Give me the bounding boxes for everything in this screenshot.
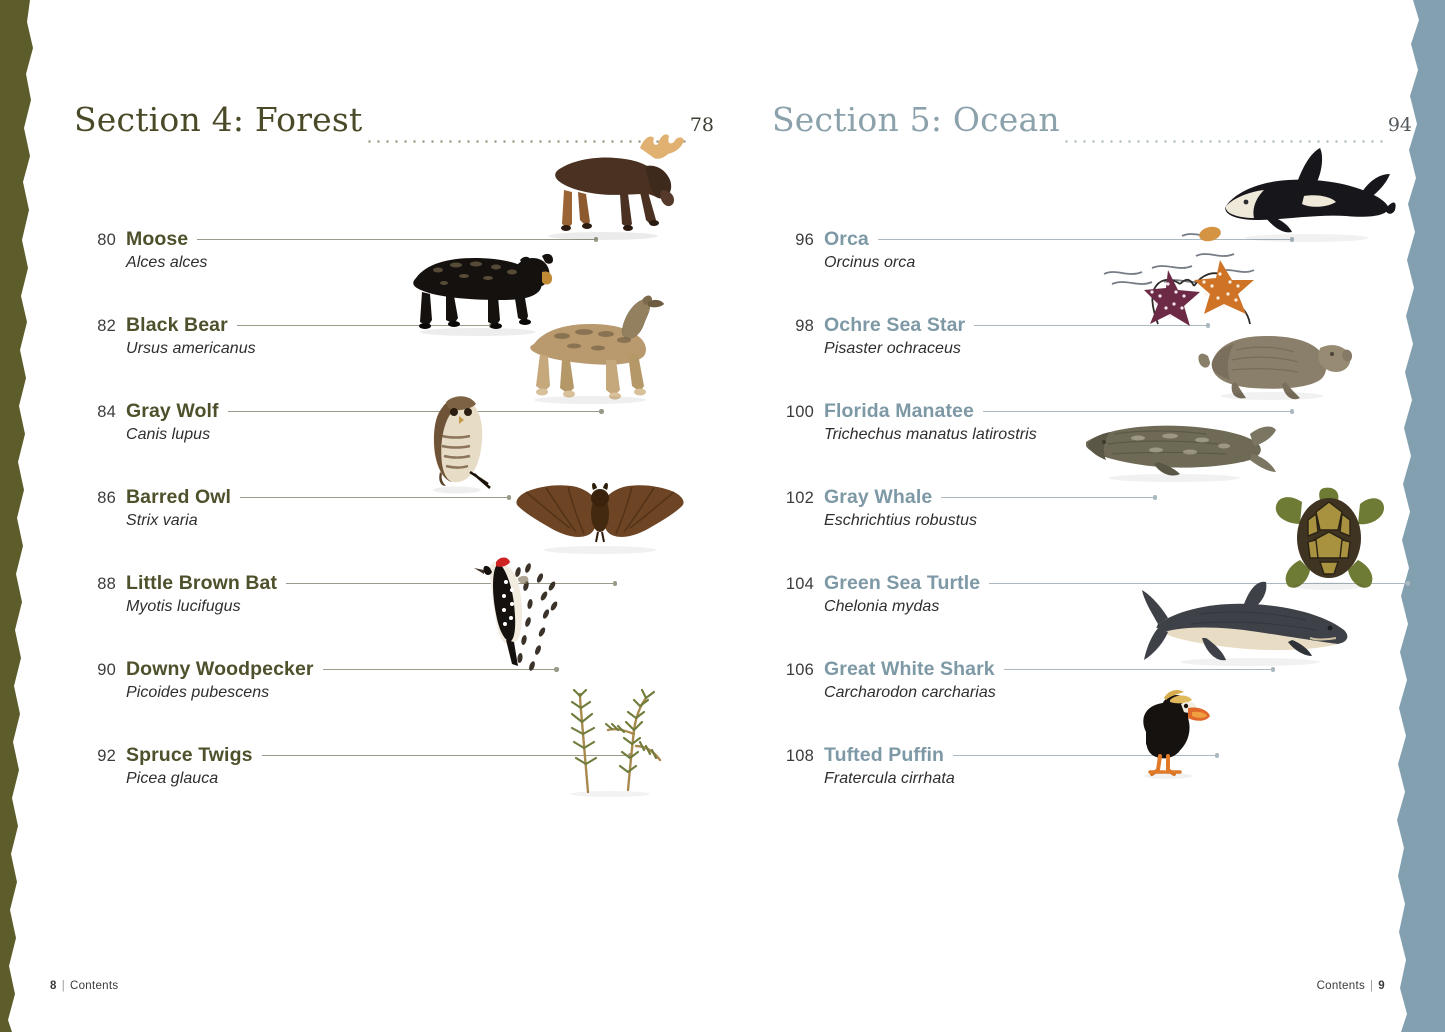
entry-latin-name: Strix varia [126,512,714,530]
entry-latin-name: Fratercula cirrhata [824,770,1412,788]
entry-connector-line [878,239,1293,240]
section-title: Section 4: Forest [74,100,363,139]
entry-name[interactable]: Moose [126,228,188,251]
leader-dots [365,140,687,143]
entry-page-number: 96 [772,231,814,250]
entry-page-number: 98 [772,317,814,336]
entry-connector-line [989,583,1409,584]
entry-connector-line [240,497,510,498]
list-item[interactable]: 86 Barred Owl Strix varia [74,486,714,542]
entry-name-row: Black Bear [126,314,714,337]
entry-page-number: 104 [772,575,814,594]
list-item[interactable]: 82 Black Bear Ursus americanus [74,314,714,370]
contents-spread: Section 4: Forest 78 80 Moose Alces alce… [0,0,1445,1032]
list-item[interactable]: 92 Spruce Twigs Picea glauca [74,744,714,800]
entry-body: Barred Owl Strix varia [126,486,714,530]
entry-name[interactable]: Great White Shark [824,658,995,681]
entry-name-row: Great White Shark [824,658,1412,681]
entry-name[interactable]: Gray Wolf [126,400,219,423]
entry-name[interactable]: Florida Manatee [824,400,974,423]
section-title: Section 5: Ocean [772,100,1060,139]
entry-name[interactable]: Green Sea Turtle [824,572,980,595]
entry-name[interactable]: Ochre Sea Star [824,314,965,337]
entry-body: Little Brown Bat Myotis lucifugus [126,572,714,616]
entry-body: Gray Whale Eschrichtius robustus [824,486,1412,530]
list-item[interactable]: 90 Downy Woodpecker Picoides pubescens [74,658,714,714]
entry-connector-line [974,325,1209,326]
entry-latin-name: Picea glauca [126,770,714,788]
entry-name-row: Moose [126,228,714,251]
entry-body: Tufted Puffin Fratercula cirrhata [824,744,1412,788]
entry-latin-name: Chelonia mydas [824,598,1412,616]
entry-connector-line [323,669,558,670]
entry-page-number: 106 [772,661,814,680]
entry-page-number: 88 [74,575,116,594]
section-ocean-column: Section 5: Ocean 94 96 Orca Orcinus orca [772,100,1412,158]
entry-body: Green Sea Turtle Chelonia mydas [824,572,1412,616]
section-page-number: 94 [1388,114,1412,136]
entry-name[interactable]: Downy Woodpecker [126,658,314,681]
footer-label: Contents [1317,980,1365,992]
entry-latin-name: Trichechus manatus latirostris [824,426,1412,444]
entry-latin-name: Orcinus orca [824,254,1412,272]
entry-page-number: 80 [74,231,116,250]
entry-connector-line [1004,669,1274,670]
entry-body: Florida Manatee Trichechus manatus latir… [824,400,1412,444]
list-item[interactable]: 100 Florida Manatee Trichechus manatus l… [772,400,1412,456]
section-heading-ocean[interactable]: Section 5: Ocean 94 [772,100,1412,150]
entry-name[interactable]: Black Bear [126,314,228,337]
entry-page-number: 108 [772,747,814,766]
entry-page-number: 90 [74,661,116,680]
entry-page-number: 86 [74,489,116,508]
footer-page-number: 8 [50,980,57,992]
list-item[interactable]: 88 Little Brown Bat Myotis lucifugus [74,572,714,628]
entry-page-number: 100 [772,403,814,422]
entry-name[interactable]: Spruce Twigs [126,744,253,767]
footer-separator: | [1370,980,1373,992]
list-item[interactable]: 96 Orca Orcinus orca [772,228,1412,284]
footer-page-number: 9 [1378,980,1385,992]
entry-connector-line [197,239,597,240]
entry-page-number: 84 [74,403,116,422]
entry-name-row: Tufted Puffin [824,744,1412,767]
entry-name-row: Florida Manatee [824,400,1412,423]
footer-left: 8|Contents [50,980,118,992]
entry-body: Orca Orcinus orca [824,228,1412,272]
entry-latin-name: Eschrichtius robustus [824,512,1412,530]
entry-latin-name: Pisaster ochraceus [824,340,1412,358]
entry-page-number: 102 [772,489,814,508]
entry-name[interactable]: Barred Owl [126,486,231,509]
footer-separator: | [62,980,65,992]
entry-latin-name: Myotis lucifugus [126,598,714,616]
entry-name-row: Green Sea Turtle [824,572,1412,595]
entry-latin-name: Ursus americanus [126,340,714,358]
list-item[interactable]: 84 Gray Wolf Canis lupus [74,400,714,456]
entry-name-row: Downy Woodpecker [126,658,714,681]
entry-name-row: Little Brown Bat [126,572,714,595]
entry-connector-line [237,325,492,326]
section-heading-forest[interactable]: Section 4: Forest 78 [74,100,714,150]
entry-body: Gray Wolf Canis lupus [126,400,714,444]
entry-latin-name: Picoides pubescens [126,684,714,702]
entry-name[interactable]: Tufted Puffin [824,744,944,767]
entry-page-number: 92 [74,747,116,766]
section-forest-column: Section 4: Forest 78 80 Moose Alces alce… [74,100,714,158]
entry-name-row: Orca [824,228,1412,251]
list-item[interactable]: 104 Green Sea Turtle Chelonia mydas [772,572,1412,628]
list-item[interactable]: 102 Gray Whale Eschrichtius robustus [772,486,1412,542]
leader-dots [1062,140,1385,143]
entry-name-row: Gray Wolf [126,400,714,423]
entry-body: Moose Alces alces [126,228,714,272]
entry-connector-line [228,411,603,412]
entry-connector-line [953,755,1218,756]
list-item[interactable]: 106 Great White Shark Carcharodon carcha… [772,658,1412,714]
entry-name-row: Barred Owl [126,486,714,509]
entry-body: Downy Woodpecker Picoides pubescens [126,658,714,702]
entry-latin-name: Carcharodon carcharias [824,684,1412,702]
contents-columns: Section 4: Forest 78 80 Moose Alces alce… [0,0,1445,1032]
list-item[interactable]: 108 Tufted Puffin Fratercula cirrhata [772,744,1412,800]
entry-page-number: 82 [74,317,116,336]
entry-latin-name: Canis lupus [126,426,714,444]
entry-connector-line [262,755,632,756]
section-page-number: 78 [690,114,714,136]
entry-body: Spruce Twigs Picea glauca [126,744,714,788]
entry-name[interactable]: Little Brown Bat [126,572,277,595]
entry-body: Great White Shark Carcharodon carcharias [824,658,1412,702]
footer-label: Contents [70,980,118,992]
list-item[interactable]: 80 Moose Alces alces [74,228,714,284]
list-item[interactable]: 98 Ochre Sea Star Pisaster ochraceus [772,314,1412,370]
footer-right: Contents|9 [1317,980,1385,992]
entry-connector-line [941,497,1156,498]
entry-name-row: Spruce Twigs [126,744,714,767]
entry-body: Ochre Sea Star Pisaster ochraceus [824,314,1412,358]
entry-body: Black Bear Ursus americanus [126,314,714,358]
entry-latin-name: Alces alces [126,254,714,272]
entry-name[interactable]: Gray Whale [824,486,932,509]
entry-connector-line [286,583,616,584]
entry-name[interactable]: Orca [824,228,869,251]
entry-name-row: Gray Whale [824,486,1412,509]
entry-name-row: Ochre Sea Star [824,314,1412,337]
entry-connector-line [983,411,1293,412]
